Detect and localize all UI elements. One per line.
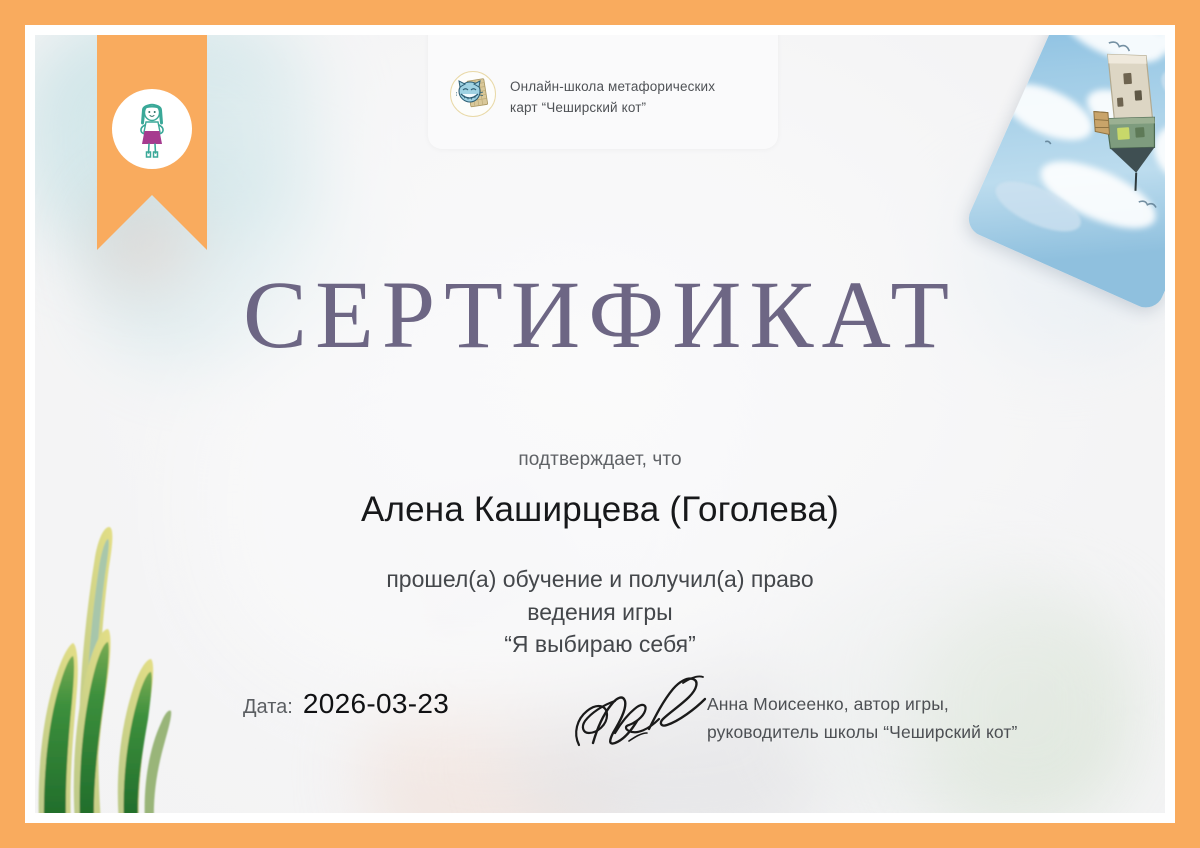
certificate-root: Онлайн-школа метафорических карт “Чеширс… <box>0 0 1200 848</box>
date-value: 2026-03-23 <box>303 688 449 720</box>
page-title: СЕРТИФИКАТ <box>35 267 1165 363</box>
body-line-3: “Я выбираю себя” <box>35 628 1165 661</box>
signer-details: Анна Моисеенко, автор игры, руководитель… <box>707 690 1017 747</box>
certificate-body: прошел(а) обучение и получил(а) право ве… <box>35 563 1165 661</box>
signer-line-2: руководитель школы “Чеширский кот” <box>707 718 1017 746</box>
date-label: Дата: <box>243 696 293 719</box>
certificate-canvas: Онлайн-школа метафорических карт “Чеширс… <box>35 35 1165 813</box>
issue-date: Дата: 2026-03-23 <box>243 688 449 720</box>
recipient-name: Алена Каширцева (Гоголева) <box>35 490 1165 530</box>
signer-line-1: Анна Моисеенко, автор игры, <box>707 690 1017 718</box>
handwritten-signature <box>563 671 723 755</box>
confirms-text: подтверждает, что <box>35 449 1165 471</box>
body-line-2: ведения игры <box>35 596 1165 629</box>
certificate-content: СЕРТИФИКАТ подтверждает, что Алена Кашир… <box>35 35 1165 813</box>
body-line-1: прошел(а) обучение и получил(а) право <box>35 563 1165 596</box>
